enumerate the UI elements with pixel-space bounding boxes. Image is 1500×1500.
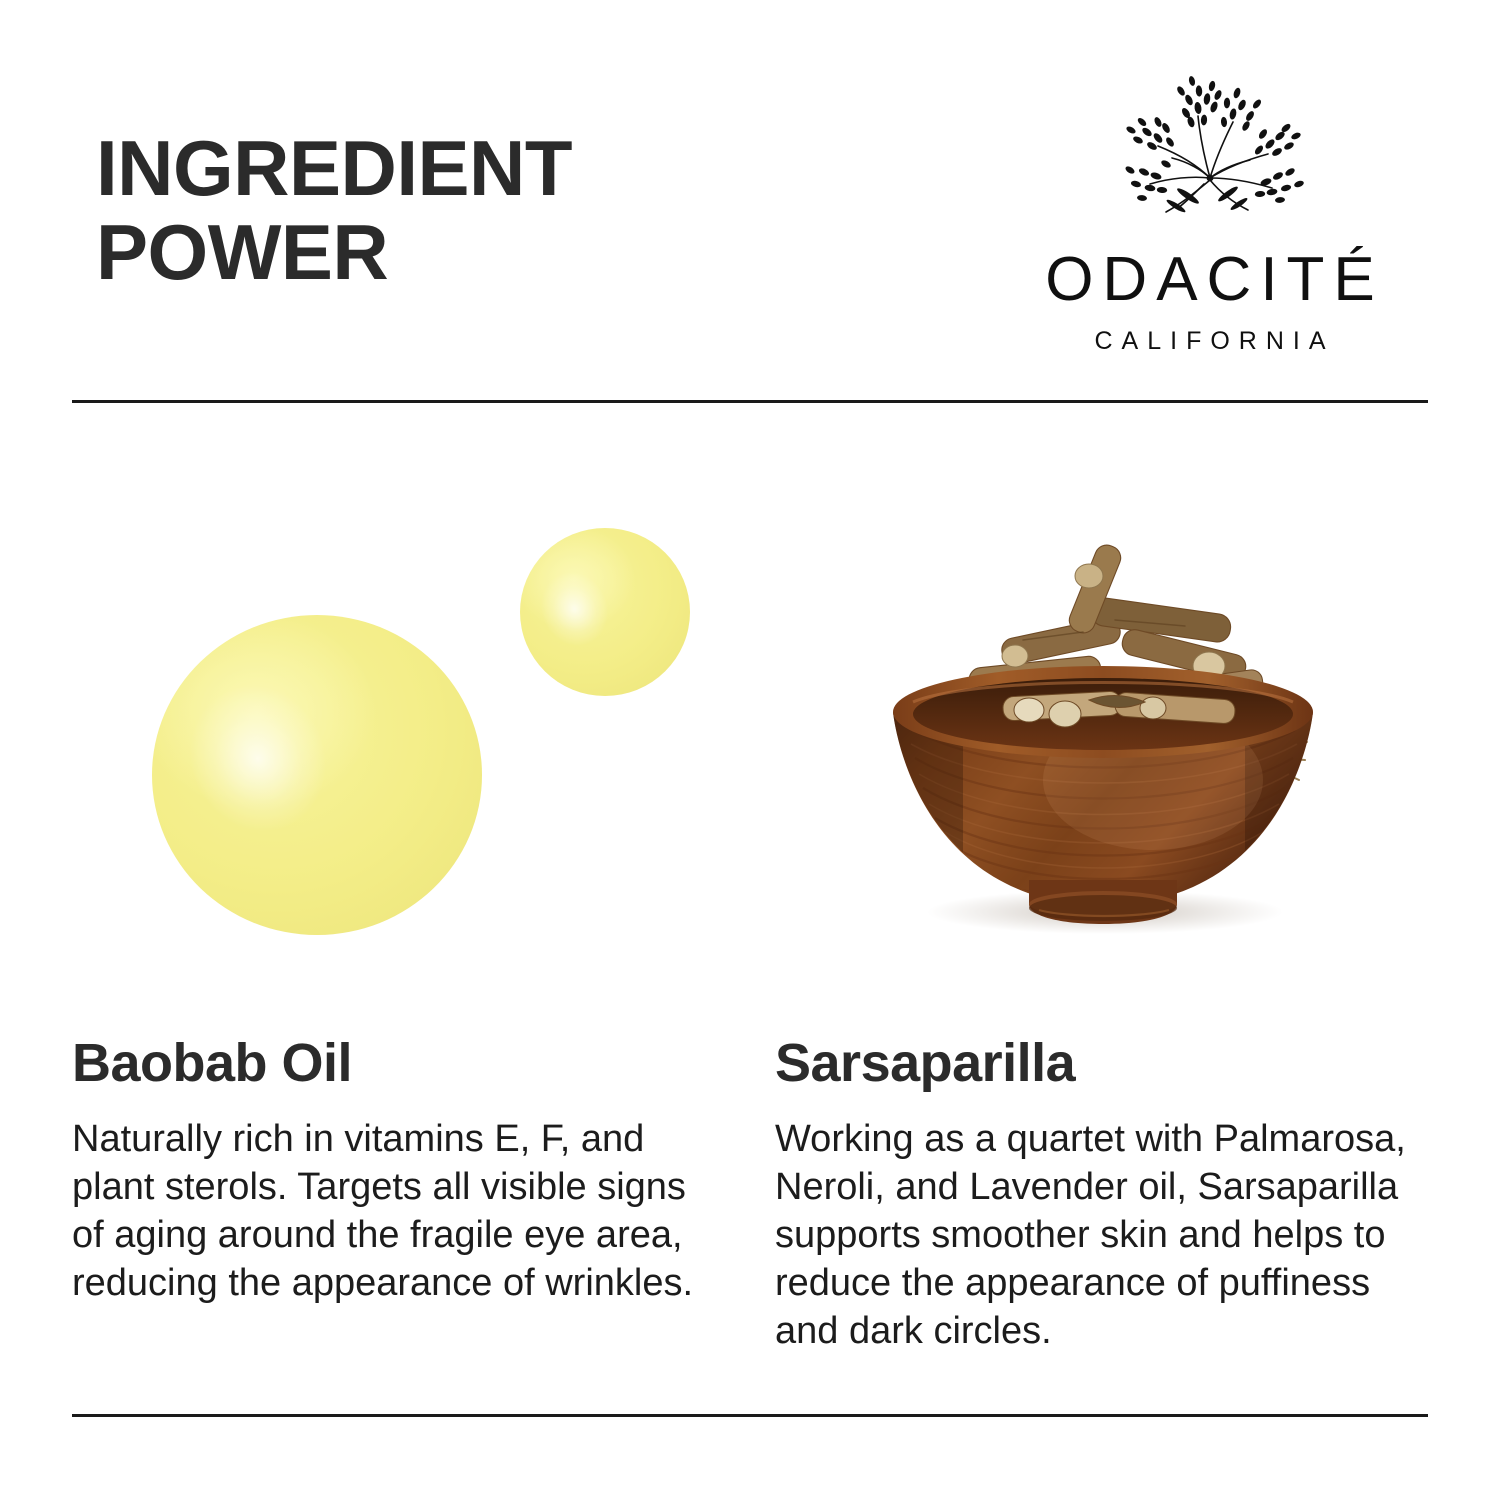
- droplet-highlight: [531, 562, 619, 655]
- wooden-bowl-with-roots-illustration: [853, 480, 1353, 980]
- ingredient-card-sarsaparilla: Sarsaparilla Working as a quartet with P…: [775, 470, 1430, 1355]
- brand-logo: ODACITÉ CALIFORNIA: [990, 60, 1430, 355]
- ingredient-description: Working as a quartet with Palmarosa, Ner…: [775, 1115, 1430, 1355]
- ingredient-title: Sarsaparilla: [775, 1033, 1430, 1093]
- bowl-scene: [853, 480, 1353, 980]
- oil-droplet-large: [152, 615, 482, 935]
- sarsaparilla-root-bowl-image: [775, 470, 1430, 1015]
- divider-top: [72, 400, 1428, 403]
- ingredient-description: Naturally rich in vitamins E, F, and pla…: [72, 1115, 727, 1307]
- umbel-flower-logo-icon: [1100, 60, 1320, 235]
- brand-tagline: CALIFORNIA: [990, 327, 1430, 355]
- ingredient-card-baobab-oil: Baobab Oil Naturally rich in vitamins E,…: [72, 470, 727, 1307]
- oil-droplet-small: [520, 528, 690, 696]
- droplet-highlight: [167, 665, 347, 853]
- ingredient-title: Baobab Oil: [72, 1033, 727, 1093]
- brand-wordmark: ODACITÉ: [990, 247, 1430, 313]
- page-title: INGREDIENT POWER: [96, 126, 736, 294]
- baobab-oil-droplets-image: [72, 470, 727, 1015]
- divider-bottom: [72, 1414, 1428, 1417]
- ingredient-power-panel: INGREDIENT POWER: [0, 0, 1500, 1500]
